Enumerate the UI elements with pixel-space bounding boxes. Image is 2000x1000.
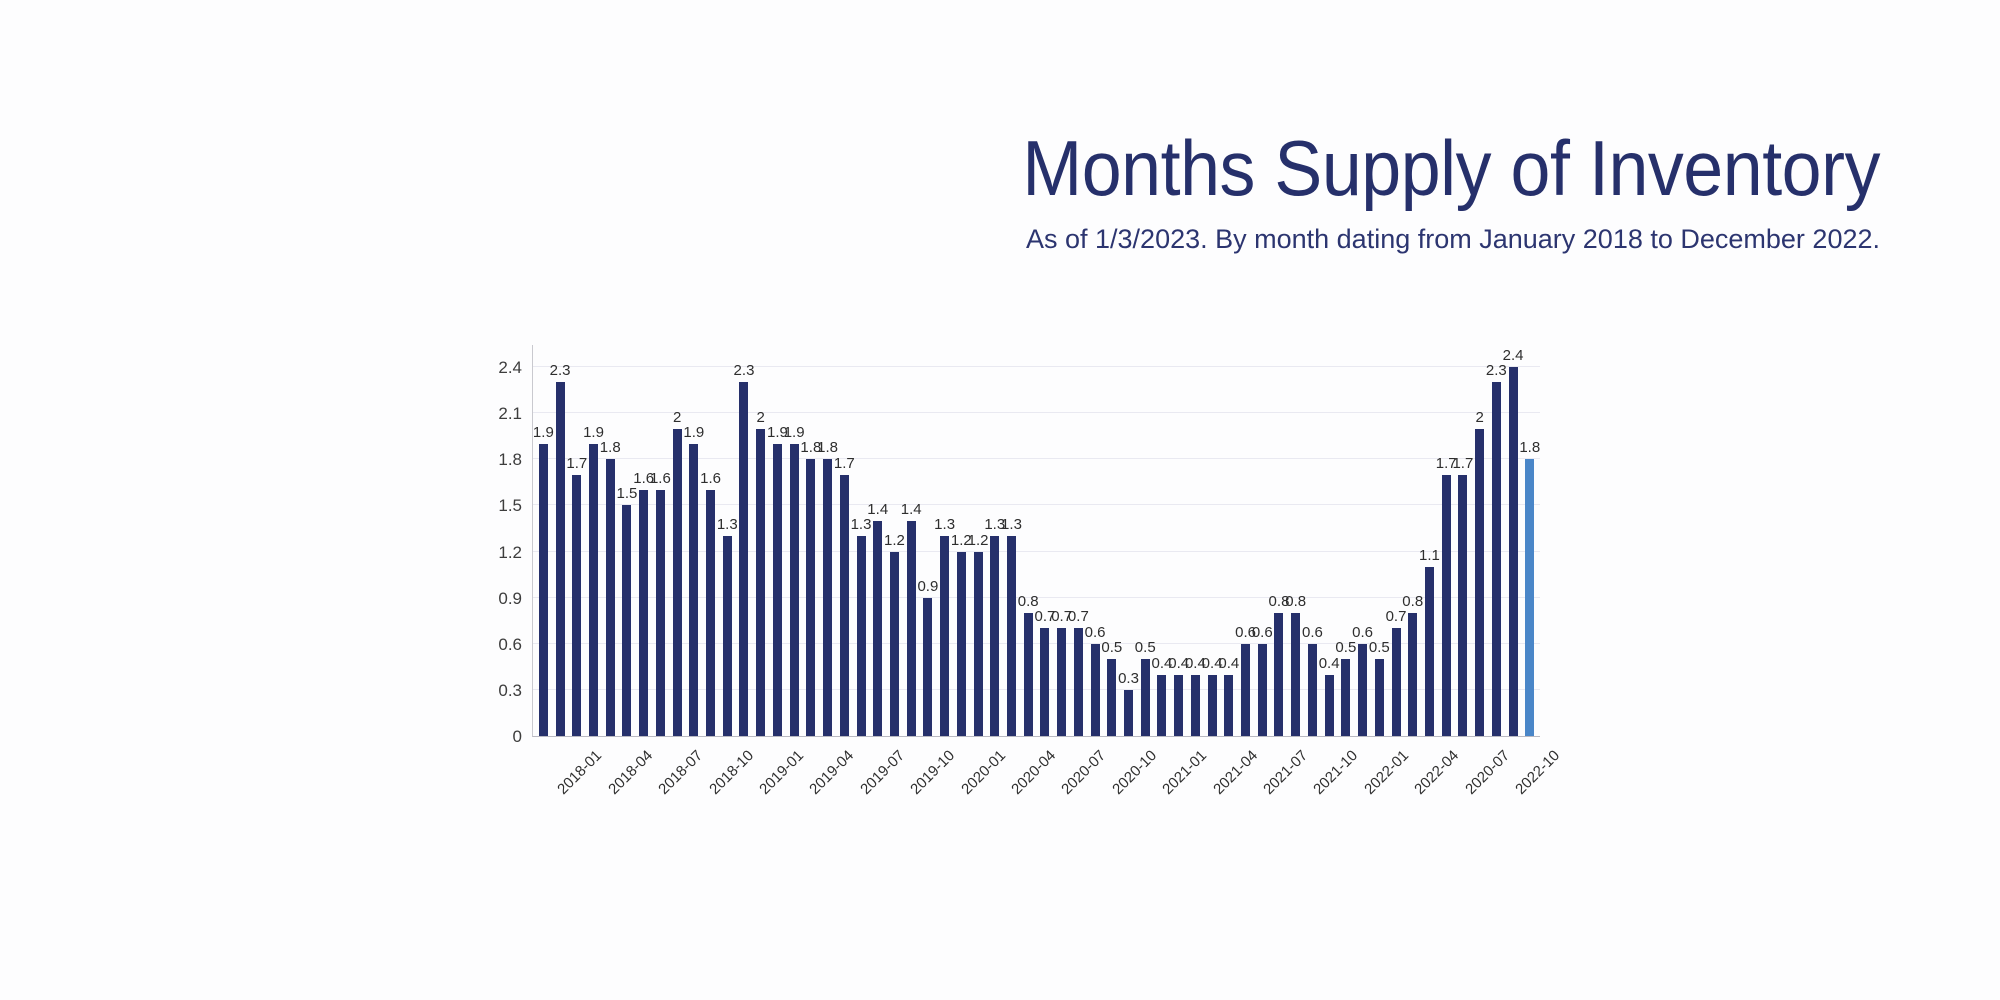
bar-slot[interactable]: 1.9 [786,345,803,736]
bar[interactable] [1157,675,1166,736]
bar-value-label: 1.6 [633,470,654,487]
bar-slot[interactable]: 1.2 [970,345,987,736]
bar[interactable] [1091,644,1100,736]
bar-slot[interactable]: 0.9 [920,345,937,736]
bar-slot[interactable]: 1.9 [685,345,702,736]
bar-value-label: 0.7 [1051,608,1072,625]
bar[interactable] [1107,659,1116,736]
bar[interactable] [1425,567,1434,736]
bar-slot[interactable]: 0.8 [1271,345,1288,736]
bar-slot[interactable]: 1.3 [719,345,736,736]
bar-value-label: 1.7 [834,455,855,472]
bar[interactable] [1458,475,1467,736]
bar-value-label: 1.9 [583,424,604,441]
bar-value-label: 2 [1475,409,1483,426]
x-axis-tick-label: 2021-01 [1159,747,1210,798]
bar[interactable] [656,490,665,736]
bar-value-label: 1.9 [784,424,805,441]
y-axis: 00.30.60.91.21.51.82.12.4 [470,345,522,737]
bar[interactable] [723,536,732,736]
bar-value-label: 0.8 [1285,593,1306,610]
bar-value-label: 1.7 [1436,455,1457,472]
bar-value-label: 1.8 [817,439,838,456]
bar-value-label: 1.8 [1519,439,1540,456]
y-axis-tick-label: 1.8 [470,450,522,470]
bar-slot[interactable]: 1.1 [1421,345,1438,736]
bar-value-label: 1.7 [1452,455,1473,472]
bar[interactable] [756,429,765,736]
bar-value-label: 1.4 [901,501,922,518]
bar-value-label: 1.9 [767,424,788,441]
bar-slot[interactable]: 0.8 [1287,345,1304,736]
bar[interactable] [1024,613,1033,736]
bar-slot[interactable]: 1.3 [1003,345,1020,736]
bar[interactable] [1274,613,1283,736]
bar-value-label: 2 [673,409,681,426]
bar-slot[interactable]: 0.7 [1388,345,1405,736]
bar-slot[interactable]: 2.4 [1505,345,1522,736]
bar-value-label: 1.6 [700,470,721,487]
bar[interactable] [1325,675,1334,736]
bar-slot[interactable]: 1.8 [1521,345,1538,736]
bar-slot[interactable]: 2 [1471,345,1488,736]
bar[interactable] [1358,644,1367,736]
x-axis-tick-label: 2020-10 [1109,747,1160,798]
bar-slot[interactable]: 0.4 [1187,345,1204,736]
bar-slot[interactable]: 0.6 [1354,345,1371,736]
bar[interactable] [1258,644,1267,736]
bar-slot[interactable]: 1.9 [585,345,602,736]
bar[interactable] [923,598,932,736]
bar-value-label: 0.7 [1034,608,1055,625]
bar[interactable] [1241,644,1250,736]
bar-slot[interactable]: 1.4 [903,345,920,736]
bar-slot[interactable]: 2.3 [552,345,569,736]
bar-slot[interactable]: 0.5 [1137,345,1154,736]
x-axis: 2018-012018-042018-072018-102019-012019-… [532,739,1540,829]
bar[interactable] [1308,644,1317,736]
bar-slot[interactable]: 1.7 [1455,345,1472,736]
bar-value-label: 0.8 [1018,593,1039,610]
bar-slot[interactable]: 2 [752,345,769,736]
bar-value-label: 2 [757,409,765,426]
chart-page: Months Supply of Inventory As of 1/3/202… [0,0,2000,1000]
x-axis-tick-label: 2018-07 [655,747,706,798]
bar-value-label: 2.3 [734,362,755,379]
bar-slot[interactable]: 1.2 [886,345,903,736]
bar-value-label: 1.2 [968,532,989,549]
bar-slot[interactable]: 0.8 [1020,345,1037,736]
bar-slot[interactable]: 0.7 [1053,345,1070,736]
x-axis-tick-label: 2020-04 [1008,747,1059,798]
page-title: Months Supply of Inventory [150,128,1880,208]
bar[interactable] [556,382,565,736]
bar-value-label: 1.3 [717,516,738,533]
bar-slot[interactable]: 1.5 [619,345,636,736]
bar-slot[interactable]: 1.3 [853,345,870,736]
bar-value-label: 1.1 [1419,547,1440,564]
bar[interactable] [957,552,966,736]
bar[interactable] [622,505,631,736]
bar-value-label: 0.8 [1402,593,1423,610]
bar[interactable] [840,475,849,736]
bar[interactable] [739,382,748,736]
bar-slot[interactable]: 2 [669,345,686,736]
x-axis-tick-label: 2019-07 [857,747,908,798]
bar-value-label: 1.2 [884,532,905,549]
bar[interactable] [940,536,949,736]
bar-value-label: 1.6 [650,470,671,487]
bar-value-label: 0.6 [1352,624,1373,641]
bar-slot[interactable]: 0.7 [1070,345,1087,736]
y-axis-tick-label: 0.3 [470,681,522,701]
bar[interactable] [1208,675,1217,736]
y-axis-tick-label: 1.2 [470,543,522,563]
x-axis-tick-label: 2020-07 [1462,747,1513,798]
bar-value-label: 1.5 [617,485,638,502]
bar-slot[interactable]: 0.4 [1170,345,1187,736]
chart-plot-area: 00.30.60.91.21.51.82.12.4 1.92.31.71.91.… [470,345,1540,795]
bar[interactable] [1174,675,1183,736]
bar-slot[interactable]: 1.6 [652,345,669,736]
bar-value-label: 0.4 [1168,655,1189,672]
bar[interactable] [589,444,598,736]
bar-slot[interactable]: 1.9 [535,345,552,736]
x-axis-tick-label: 2019-10 [907,747,958,798]
bar[interactable] [689,444,698,736]
bar[interactable] [1392,628,1401,736]
bar-value-label: 0.5 [1135,639,1156,656]
bar[interactable] [639,490,648,736]
bar-slot[interactable]: 0.4 [1154,345,1171,736]
y-axis-tick-label: 2.4 [470,358,522,378]
bar-slot[interactable]: 1.7 [568,345,585,736]
bar-slot[interactable]: 1.2 [953,345,970,736]
bar[interactable] [673,429,682,736]
bar[interactable] [1408,613,1417,736]
bar[interactable] [823,459,832,736]
bar-slot[interactable]: 0.6 [1087,345,1104,736]
x-axis-tick-label: 2022-04 [1411,747,1462,798]
bar-value-label: 0.6 [1302,624,1323,641]
bar[interactable] [572,475,581,736]
bar-value-label: 0.6 [1085,624,1106,641]
x-axis-tick-label: 2020-07 [1059,747,1110,798]
bar-value-label: 0.6 [1235,624,1256,641]
bar-slot[interactable]: 0.6 [1237,345,1254,736]
y-axis-tick-label: 0.6 [470,635,522,655]
bar-value-label: 1.9 [533,424,554,441]
bar[interactable] [990,536,999,736]
bar-slot[interactable]: 2.3 [1488,345,1505,736]
bar-value-label: 0.9 [917,578,938,595]
bar[interactable] [706,490,715,736]
bar-value-label: 1.2 [951,532,972,549]
bar-value-label: 1.3 [851,516,872,533]
x-axis-tick-label: 2020-01 [958,747,1009,798]
bar-value-label: 0.7 [1386,608,1407,625]
bar-value-label: 1.8 [800,439,821,456]
x-axis-tick-label: 2021-10 [1311,747,1362,798]
bar-slot[interactable]: 0.5 [1338,345,1355,736]
bar[interactable] [1007,536,1016,736]
bar-slot[interactable]: 0.8 [1404,345,1421,736]
chart-subtitle: As of 1/3/2023. By month dating from Jan… [0,224,1880,255]
bar-value-label: 1.3 [934,516,955,533]
bar-value-label: 1.3 [984,516,1005,533]
bar[interactable] [806,459,815,736]
bar[interactable] [857,536,866,736]
bar-value-label: 0.5 [1101,639,1122,656]
bar-slot[interactable]: 0.3 [1120,345,1137,736]
bar-value-label: 0.5 [1335,639,1356,656]
bar[interactable] [1141,659,1150,736]
bar-slot[interactable]: 1.8 [819,345,836,736]
bar-slot[interactable]: 0.5 [1371,345,1388,736]
bar-value-label: 1.7 [566,455,587,472]
bar-value-label: 0.8 [1269,593,1290,610]
x-axis-tick-label: 2019-04 [807,747,858,798]
bar-slot[interactable]: 0.6 [1304,345,1321,736]
bar[interactable] [790,444,799,736]
bar[interactable] [1341,659,1350,736]
bar[interactable] [606,459,615,736]
y-axis-tick-label: 1.5 [470,496,522,516]
bar-value-label: 2.3 [1486,362,1507,379]
bar[interactable] [773,444,782,736]
bar-value-label: 0.4 [1185,655,1206,672]
bar[interactable] [1124,690,1133,736]
bar-value-label: 0.5 [1369,639,1390,656]
x-axis-tick-label: 2022-10 [1512,747,1563,798]
x-axis-tick-label: 2018-10 [706,747,757,798]
bar-value-label: 1.3 [1001,516,1022,533]
bar-slot[interactable]: 1.6 [702,345,719,736]
bar-slot[interactable]: 1.6 [635,345,652,736]
bar-value-label: 2.4 [1503,347,1524,364]
bar[interactable] [1375,659,1384,736]
bar-slot[interactable]: 1.7 [1438,345,1455,736]
y-axis-tick-label: 2.1 [470,404,522,424]
plot-canvas: 1.92.31.71.91.81.51.61.621.91.61.32.321.… [532,345,1540,737]
bar[interactable] [1442,475,1451,736]
bar-value-label: 1.4 [867,501,888,518]
bar-value-label: 2.3 [550,362,571,379]
bar-highlighted[interactable] [1525,459,1534,736]
x-axis-tick-label: 2018-04 [605,747,656,798]
bar[interactable] [1191,675,1200,736]
x-axis-tick-label: 2019-01 [756,747,807,798]
x-axis-tick-label: 2021-07 [1260,747,1311,798]
bar-value-label: 1.8 [600,439,621,456]
bar[interactable] [890,552,899,736]
x-axis-tick-label: 2022-01 [1361,747,1412,798]
bar-value-label: 0.3 [1118,670,1139,687]
bar-slot[interactable]: 0.4 [1220,345,1237,736]
x-axis-tick-label: 2021-04 [1210,747,1261,798]
bar-slot[interactable]: 1.8 [803,345,820,736]
bar-slot[interactable]: 0.5 [1103,345,1120,736]
bar[interactable] [539,444,548,736]
bar[interactable] [1509,367,1518,736]
bar[interactable] [974,552,983,736]
bar[interactable] [1040,628,1049,736]
bar[interactable] [1224,675,1233,736]
bar[interactable] [907,521,916,736]
bar[interactable] [873,521,882,736]
bar[interactable] [1291,613,1300,736]
bar-slot[interactable]: 2.3 [736,345,753,736]
bar-value-label: 0.4 [1202,655,1223,672]
bar-slot[interactable]: 0.4 [1321,345,1338,736]
bar-slot[interactable]: 1.3 [936,345,953,736]
bar-slot[interactable]: 1.7 [836,345,853,736]
bar-slot[interactable]: 1.3 [986,345,1003,736]
bar-value-label: 0.7 [1068,608,1089,625]
bar-value-label: 0.4 [1218,655,1239,672]
x-axis-tick-label: 2018-01 [555,747,606,798]
bar[interactable] [1475,429,1484,736]
y-axis-tick-label: 0.9 [470,589,522,609]
bar-slot[interactable]: 1.4 [869,345,886,736]
y-axis-tick-label: 0 [470,727,522,747]
bar-slot[interactable]: 1.9 [769,345,786,736]
bar-value-label: 0.6 [1252,624,1273,641]
bar[interactable] [1074,628,1083,736]
bar-slot[interactable]: 1.8 [602,345,619,736]
bar-slot[interactable]: 0.6 [1254,345,1271,736]
bar-value-label: 0.4 [1319,655,1340,672]
bar-slot[interactable]: 0.7 [1037,345,1054,736]
bar-value-label: 0.4 [1152,655,1173,672]
bar[interactable] [1057,628,1066,736]
bar-slot[interactable]: 0.4 [1204,345,1221,736]
bar-series: 1.92.31.71.91.81.51.61.621.91.61.32.321.… [533,345,1540,736]
bar-value-label: 1.9 [683,424,704,441]
bar[interactable] [1492,382,1501,736]
chart-header: Months Supply of Inventory As of 1/3/202… [0,128,1880,255]
